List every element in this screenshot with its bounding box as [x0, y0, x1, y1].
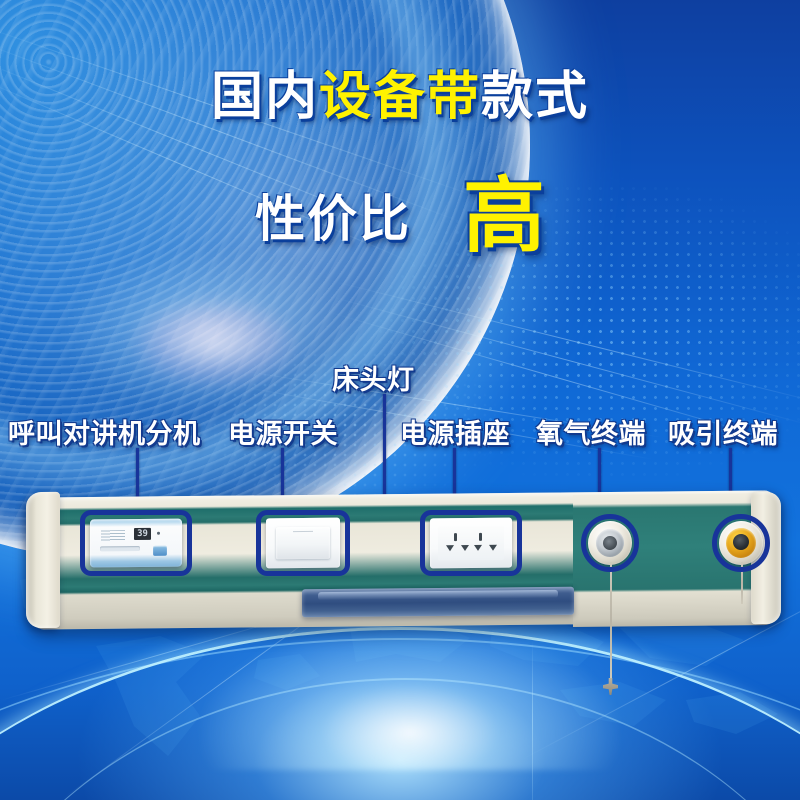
oxygen-hanging-cord — [610, 562, 612, 680]
highlight-box-power-switch — [256, 510, 350, 576]
callout-label-power-switch: 电源开关 — [228, 412, 338, 451]
bed-lamp-lens[interactable] — [302, 587, 574, 618]
headline-text-accent: 设备带 — [319, 68, 481, 126]
callout-label-suction: 吸引终端 — [668, 412, 778, 451]
poster-canvas: 国内设备带款式 性价比高 呼叫对讲机分机 电源开关 床头灯 电源插座 氧气终端 … — [0, 0, 800, 800]
headline-line-1: 国内设备带款式 — [0, 70, 800, 125]
horizon-light-burst — [200, 620, 620, 770]
headline-emphasis: 高 — [463, 171, 545, 262]
headline-block: 国内设备带款式 性价比高 — [0, 70, 800, 260]
highlight-box-power-socket — [420, 510, 522, 576]
highlight-circle-oxygen — [581, 514, 639, 572]
callout-label-oxygen: 氧气终端 — [536, 412, 646, 451]
headline-text-prefix: 国内 — [211, 68, 319, 126]
callout-label-bed-lamp: 床头灯 — [332, 358, 415, 397]
highlight-box-intercom — [80, 510, 192, 576]
callout-label-intercom: 呼叫对讲机分机 — [8, 412, 201, 451]
headline-line-2: 性价比高 — [0, 141, 800, 260]
vertical-light-line — [532, 640, 533, 800]
headline-text-suffix: 款式 — [481, 68, 589, 126]
panel-end-cap-left — [26, 492, 60, 628]
highlight-circle-suction — [712, 514, 770, 572]
callout-label-power-socket: 电源插座 — [400, 412, 510, 451]
headline-subtext: 性价比 — [255, 191, 411, 247]
medical-bed-head-unit: 39 — [18, 488, 788, 636]
